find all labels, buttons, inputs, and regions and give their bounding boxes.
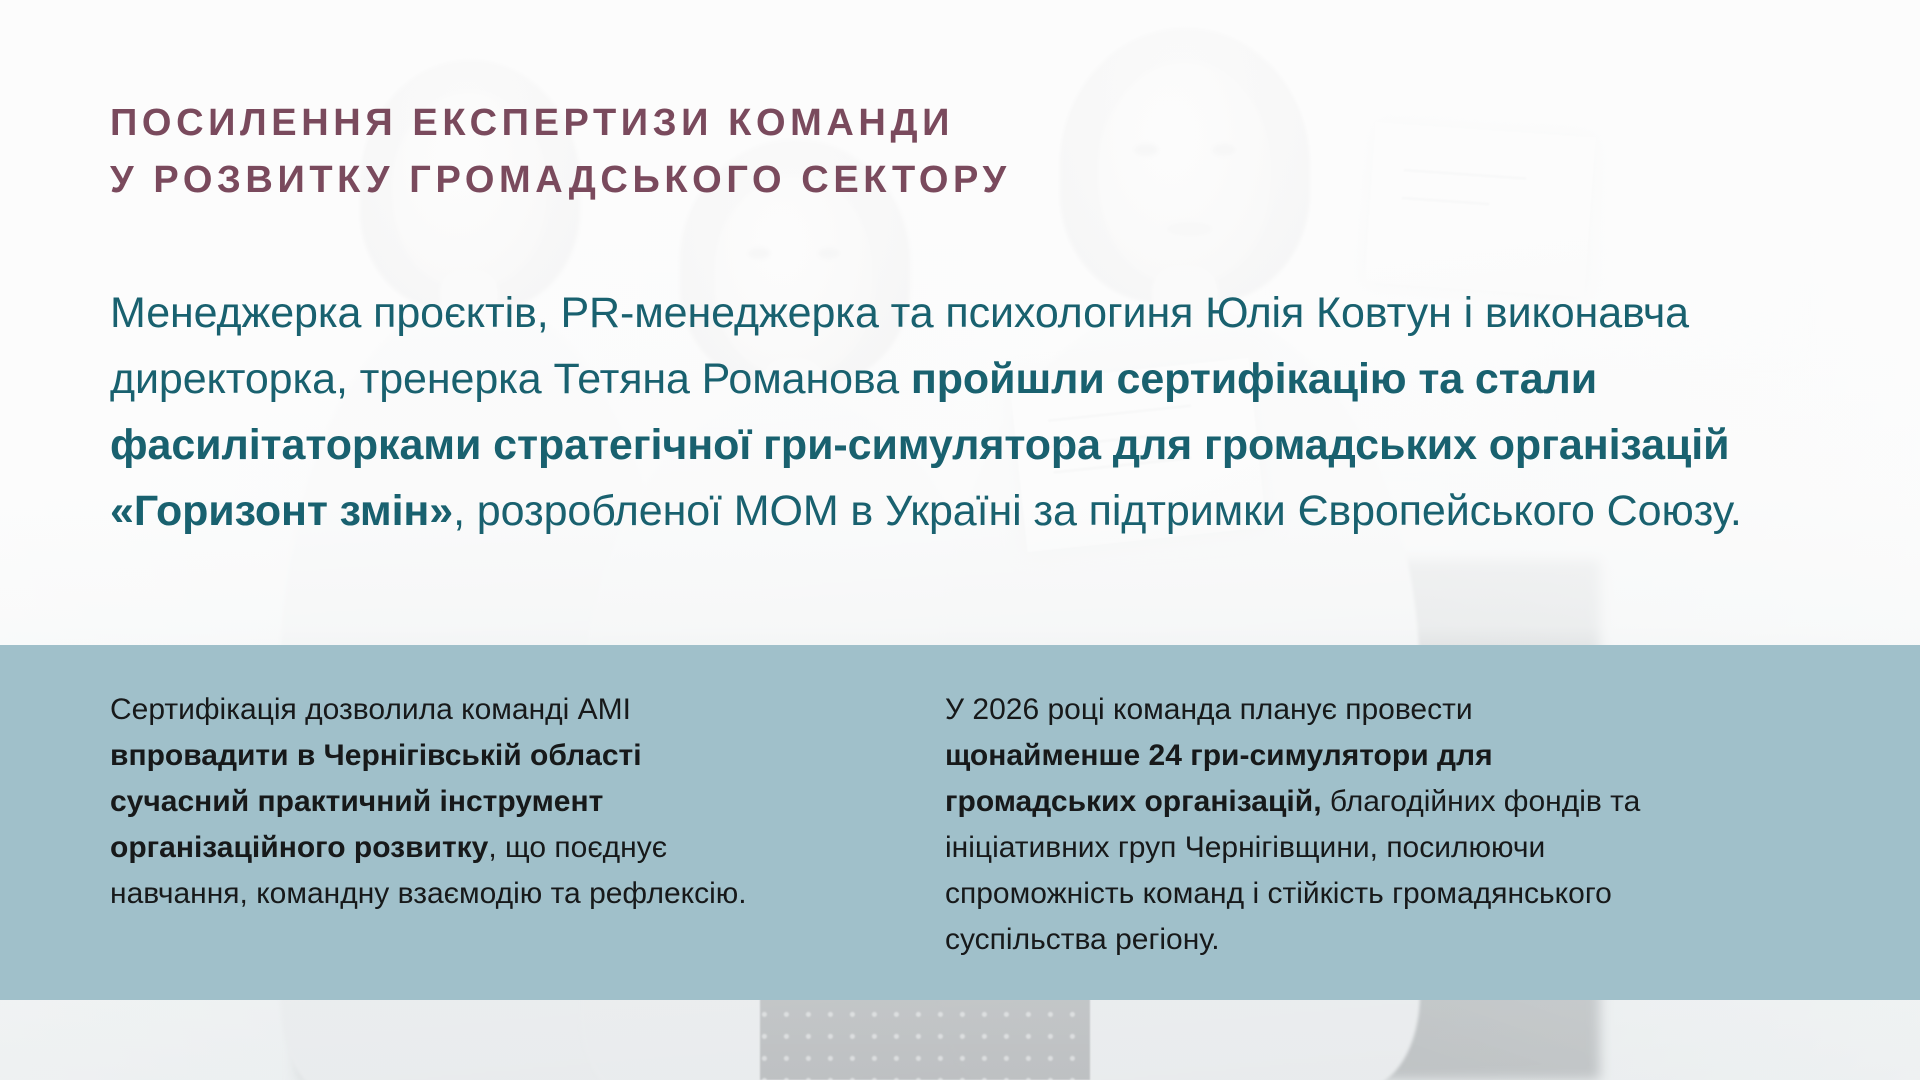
page-title: ПОСИЛЕННЯ ЕКСПЕРТИЗИ КОМАНДИ У РОЗВИТКУ … <box>110 95 1011 209</box>
page-title-line-1: ПОСИЛЕННЯ ЕКСПЕРТИЗИ КОМАНДИ <box>110 95 1011 152</box>
lead-paragraph: Менеджерка проєктів, PR-менеджерка та пс… <box>110 280 1840 544</box>
text-run: , розробленої МОМ в Україні за підтримки… <box>453 487 1742 535</box>
band-column-future-plans: У 2026 році команда планує провести щона… <box>945 687 1645 963</box>
text-run: Сертифікація дозволила команді AMI <box>110 693 631 726</box>
page-title-line-2: У РОЗВИТКУ ГРОМАДСЬКОГО СЕКТОРУ <box>110 152 1011 209</box>
text-run: У 2026 році команда планує провести <box>945 693 1473 726</box>
band-column-certification-outcome: Сертифікація дозволила команді AMI впров… <box>110 687 770 917</box>
